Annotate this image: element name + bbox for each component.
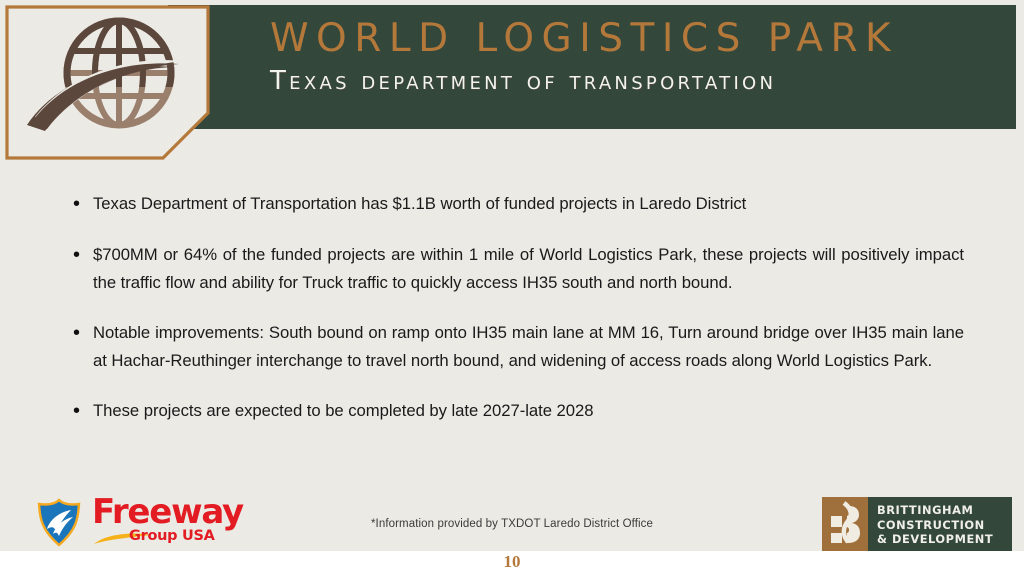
brittingham-line-3: & DEVELOPMENT	[877, 532, 1012, 547]
slide-header: WORLD LOGISTICS PARK Texas department of…	[0, 0, 1024, 160]
globe-logo-icon	[5, 5, 210, 160]
freeway-subtitle: Group USA	[129, 528, 215, 544]
bullet-marker-icon: •	[64, 397, 93, 425]
page-title: WORLD LOGISTICS PARK	[270, 14, 1020, 64]
bullet-text: Texas Department of Transportation has $…	[93, 190, 964, 218]
brittingham-logo: BRITTINGHAM CONSTRUCTION & DEVELOPMENT	[822, 497, 1012, 551]
freeway-group-logo: Freeway Group USA	[34, 496, 224, 550]
list-item: • $700MM or 64% of the funded projects a…	[64, 241, 964, 296]
brittingham-b-mark-icon	[822, 497, 868, 551]
bullet-marker-icon: •	[64, 241, 93, 269]
freeway-wordmark: Freeway	[92, 492, 243, 532]
bullet-text: Notable improvements: South bound on ram…	[93, 319, 964, 374]
page-subtitle: Texas department of transportation	[270, 64, 1020, 98]
brittingham-line-1: BRITTINGHAM	[877, 503, 1012, 518]
bullet-text: These projects are expected to be comple…	[93, 397, 964, 425]
bullet-marker-icon: •	[64, 319, 93, 347]
bullet-marker-icon: •	[64, 190, 93, 218]
highway-shield-icon	[34, 498, 84, 548]
slide-canvas: WORLD LOGISTICS PARK Texas department of…	[0, 0, 1024, 551]
list-item: • Texas Department of Transportation has…	[64, 190, 964, 218]
brittingham-line-2: CONSTRUCTION	[877, 518, 1012, 533]
letter-b-icon	[822, 497, 868, 551]
bullet-text: $700MM or 64% of the funded projects are…	[93, 241, 964, 296]
list-item: • Notable improvements: South bound on r…	[64, 319, 964, 374]
bullet-list: • Texas Department of Transportation has…	[64, 190, 964, 425]
brittingham-wordmark: BRITTINGHAM CONSTRUCTION & DEVELOPMENT	[868, 497, 1012, 551]
list-item: • These projects are expected to be comp…	[64, 397, 964, 425]
globe-logo-box	[5, 5, 210, 160]
page-number: 10	[0, 552, 1024, 572]
header-title-block: WORLD LOGISTICS PARK Texas department of…	[270, 14, 1020, 98]
